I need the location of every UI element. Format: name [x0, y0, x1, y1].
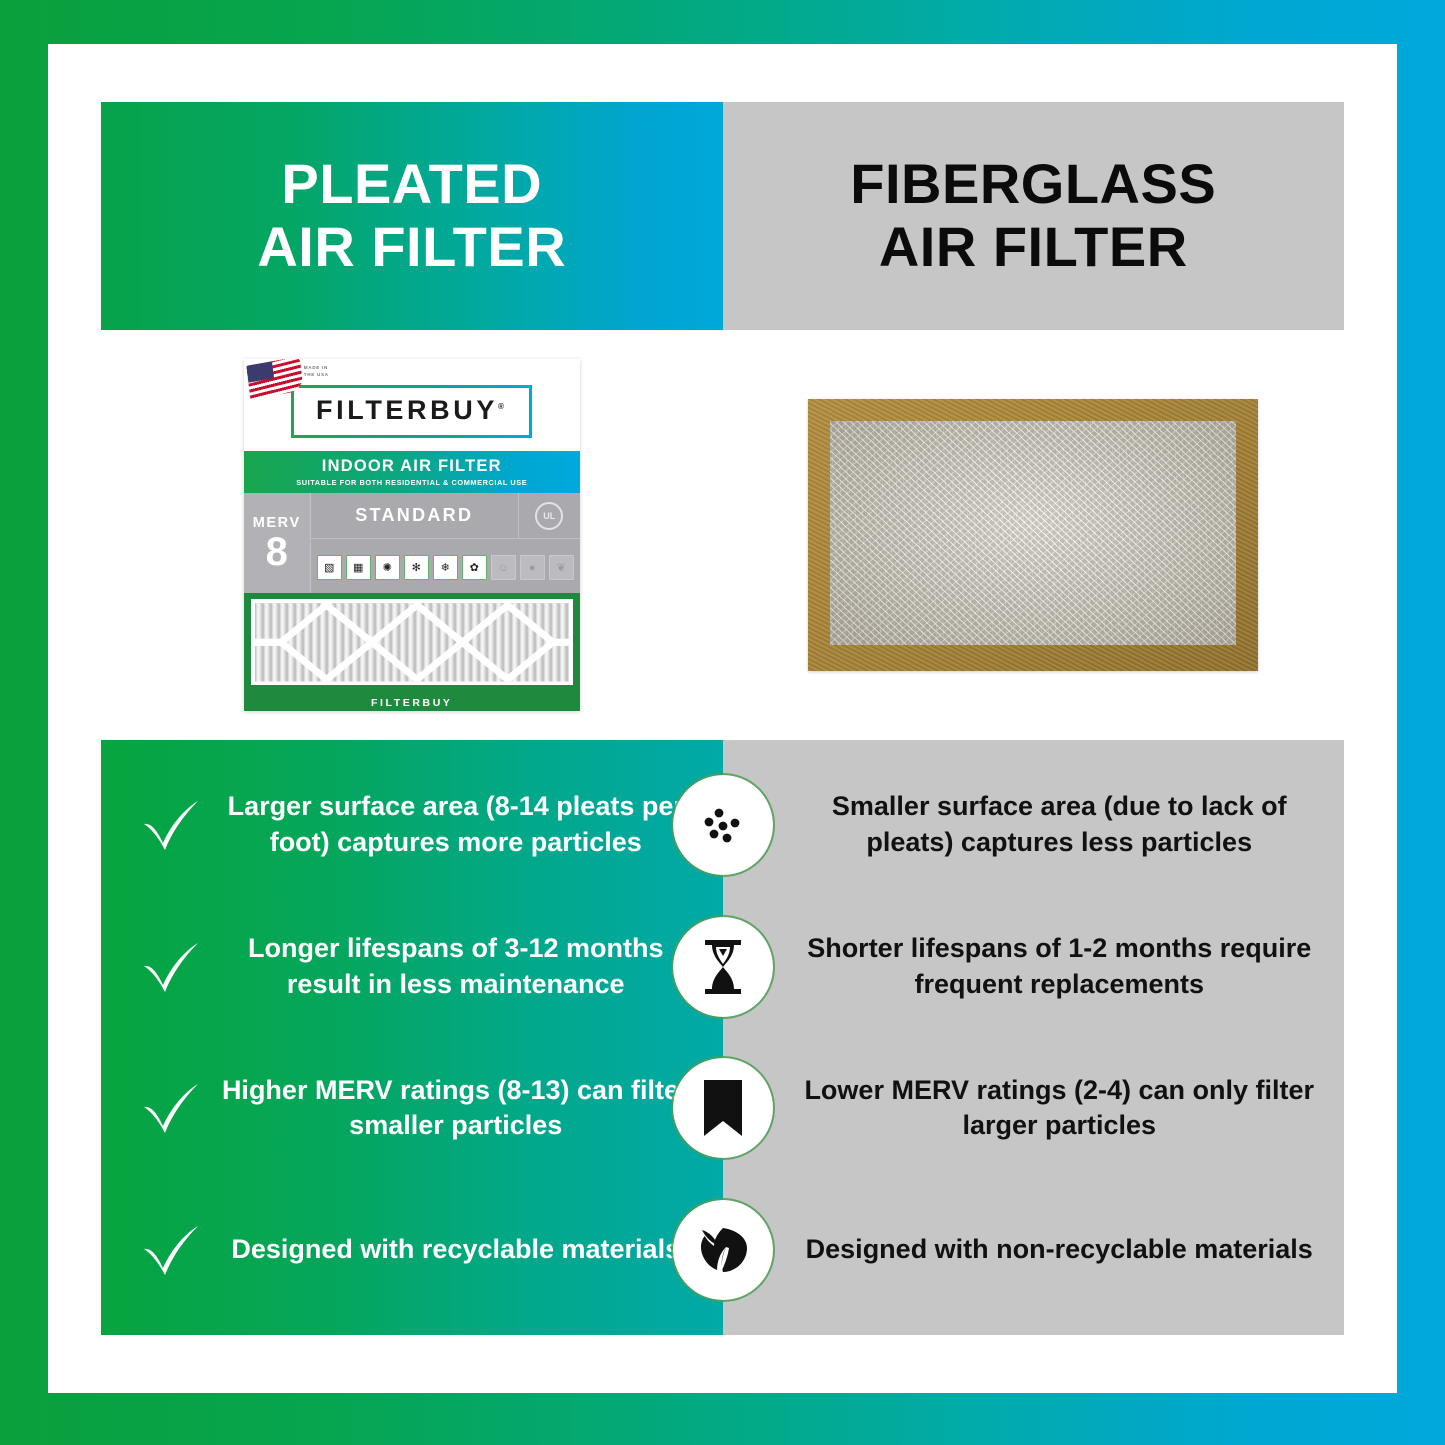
- comparison-headers: PLEATED AIR FILTER FIBERGLASS AIR FILTER: [101, 102, 1344, 330]
- filter-box-bottom-brand: FILTERBUY: [244, 697, 580, 709]
- center-icon-wrap: [674, 1201, 772, 1299]
- header-fiberglass: FIBERGLASS AIR FILTER: [723, 102, 1345, 330]
- table-row: Larger surface area (8-14 pleats per foo…: [101, 755, 1344, 895]
- comparison-panel: Larger surface area (8-14 pleats per foo…: [101, 740, 1344, 1335]
- pleat-texture: [251, 599, 573, 685]
- feature-icon-mold: ✻: [404, 555, 429, 580]
- check-icon: [133, 929, 209, 1005]
- infographic-page: PLEATED AIR FILTER FIBERGLASS AIR FILTER…: [48, 44, 1397, 1393]
- particles-icon: [676, 778, 770, 872]
- header-pleated-title: PLEATED AIR FILTER: [257, 153, 566, 278]
- header-pleated-line2: AIR FILTER: [257, 216, 566, 279]
- row-right-text: Shorter lifespans of 1-2 months require …: [801, 931, 1319, 1002]
- header-fiberglass-title: FIBERGLASS AIR FILTER: [850, 153, 1216, 278]
- feature-icon-smoke: ☺: [491, 555, 516, 580]
- grade-row: STANDARD UL: [311, 493, 580, 539]
- row-left-pleated: Higher MERV ratings (8-13) can filter sm…: [101, 1070, 723, 1146]
- outer-gradient-frame: PLEATED AIR FILTER FIBERGLASS AIR FILTER…: [0, 0, 1445, 1445]
- brand-name: FILTERBUY: [316, 395, 498, 425]
- row-right-text: Lower MERV ratings (2-4) can only filter…: [801, 1073, 1319, 1144]
- check-icon: [133, 1070, 209, 1146]
- center-icon-wrap: [674, 776, 772, 874]
- feature-icon-mite: ▦: [346, 555, 371, 580]
- check-icon: [133, 1212, 209, 1288]
- row-left-text: Larger surface area (8-14 pleats per foo…: [217, 789, 705, 860]
- table-row: Designed with recyclable materials Desig…: [101, 1180, 1344, 1320]
- merv-badge: MERV 8: [244, 493, 311, 593]
- row-left-text: Designed with recyclable materials: [217, 1232, 705, 1268]
- header-pleated: PLEATED AIR FILTER: [101, 102, 723, 330]
- check-icon: [133, 787, 209, 863]
- certification-area: UL: [518, 493, 580, 538]
- row-right-fiberglass: Smaller surface area (due to lack of ple…: [723, 789, 1345, 860]
- pleated-filter-box-image: MADE IN THE USA FILTERBUY® INDOOR AIR FI…: [244, 359, 580, 711]
- feature-icon-lint: ❄: [433, 555, 458, 580]
- brand-logo-frame: FILTERBUY®: [291, 385, 532, 438]
- indoor-air-filter-band: INDOOR AIR FILTER SUITABLE FOR BOTH RESI…: [244, 451, 580, 493]
- leaf-icon: [676, 1203, 770, 1297]
- center-icon-wrap: [674, 918, 772, 1016]
- product-cell-pleated: MADE IN THE USA FILTERBUY® INDOOR AIR FI…: [101, 330, 723, 740]
- fiberglass-mesh-texture: [830, 421, 1236, 645]
- filter-box-top: MADE IN THE USA FILTERBUY®: [244, 359, 580, 451]
- table-row: Longer lifespans of 3-12 months result i…: [101, 897, 1344, 1037]
- row-right-fiberglass: Designed with non-recyclable materials: [723, 1232, 1345, 1268]
- feature-icon-grid: ▧ ▦ ✺ ✻ ❄ ✿ ☺ ● ❦: [311, 539, 580, 593]
- brand-logo-text: FILTERBUY®: [316, 395, 507, 426]
- support-grid-icon: [251, 599, 573, 685]
- merv-label: MERV: [253, 515, 301, 531]
- filter-box-middle-right: STANDARD UL ▧ ▦ ✺ ✻ ❄ ✿ ☺: [311, 493, 580, 593]
- made-in-line2: THE USA: [304, 372, 329, 379]
- comparison-rows: Larger surface area (8-14 pleats per foo…: [101, 740, 1344, 1335]
- merv-value: 8: [266, 532, 288, 572]
- center-icon-wrap: [674, 1059, 772, 1157]
- filter-box-middle: MERV 8 STANDARD UL ▧ ▦ ✺: [244, 493, 580, 593]
- fiberglass-filter-image: [808, 399, 1258, 671]
- ul-certification-icon: UL: [535, 502, 563, 530]
- feature-icon-dust: ▧: [317, 555, 342, 580]
- row-left-pleated: Larger surface area (8-14 pleats per foo…: [101, 787, 723, 863]
- feature-icon-bacteria: ●: [520, 555, 545, 580]
- header-pleated-line1: PLEATED: [257, 153, 566, 216]
- brand-trademark: ®: [498, 402, 508, 411]
- row-left-text: Longer lifespans of 3-12 months result i…: [217, 931, 705, 1002]
- product-images-band: MADE IN THE USA FILTERBUY® INDOOR AIR FI…: [101, 330, 1344, 740]
- bookmark-icon: [676, 1061, 770, 1155]
- header-fiberglass-line1: FIBERGLASS: [850, 153, 1216, 216]
- band-subtitle: SUITABLE FOR BOTH RESIDENTIAL & COMMERCI…: [296, 478, 527, 487]
- row-left-text: Higher MERV ratings (8-13) can filter sm…: [217, 1073, 705, 1144]
- made-in-usa-label: MADE IN THE USA: [304, 365, 329, 379]
- row-right-text: Designed with non-recyclable materials: [801, 1232, 1319, 1268]
- grade-label: STANDARD: [311, 505, 518, 526]
- feature-icon-virus: ❦: [549, 555, 574, 580]
- table-row: Higher MERV ratings (8-13) can filter sm…: [101, 1038, 1344, 1178]
- feature-icon-pollen: ✺: [375, 555, 400, 580]
- header-fiberglass-line2: AIR FILTER: [850, 216, 1216, 279]
- pleated-media-area: FILTERBUY: [244, 593, 580, 711]
- hourglass-icon: [676, 920, 770, 1014]
- feature-icon-pet-dander: ✿: [462, 555, 487, 580]
- band-title: INDOOR AIR FILTER: [322, 457, 502, 476]
- product-cell-fiberglass: [723, 330, 1345, 740]
- made-in-line1: MADE IN: [304, 365, 329, 372]
- row-left-pleated: Designed with recyclable materials: [101, 1212, 723, 1288]
- row-left-pleated: Longer lifespans of 3-12 months result i…: [101, 929, 723, 1005]
- row-right-text: Smaller surface area (due to lack of ple…: [801, 789, 1319, 860]
- row-right-fiberglass: Lower MERV ratings (2-4) can only filter…: [723, 1073, 1345, 1144]
- row-right-fiberglass: Shorter lifespans of 1-2 months require …: [723, 931, 1345, 1002]
